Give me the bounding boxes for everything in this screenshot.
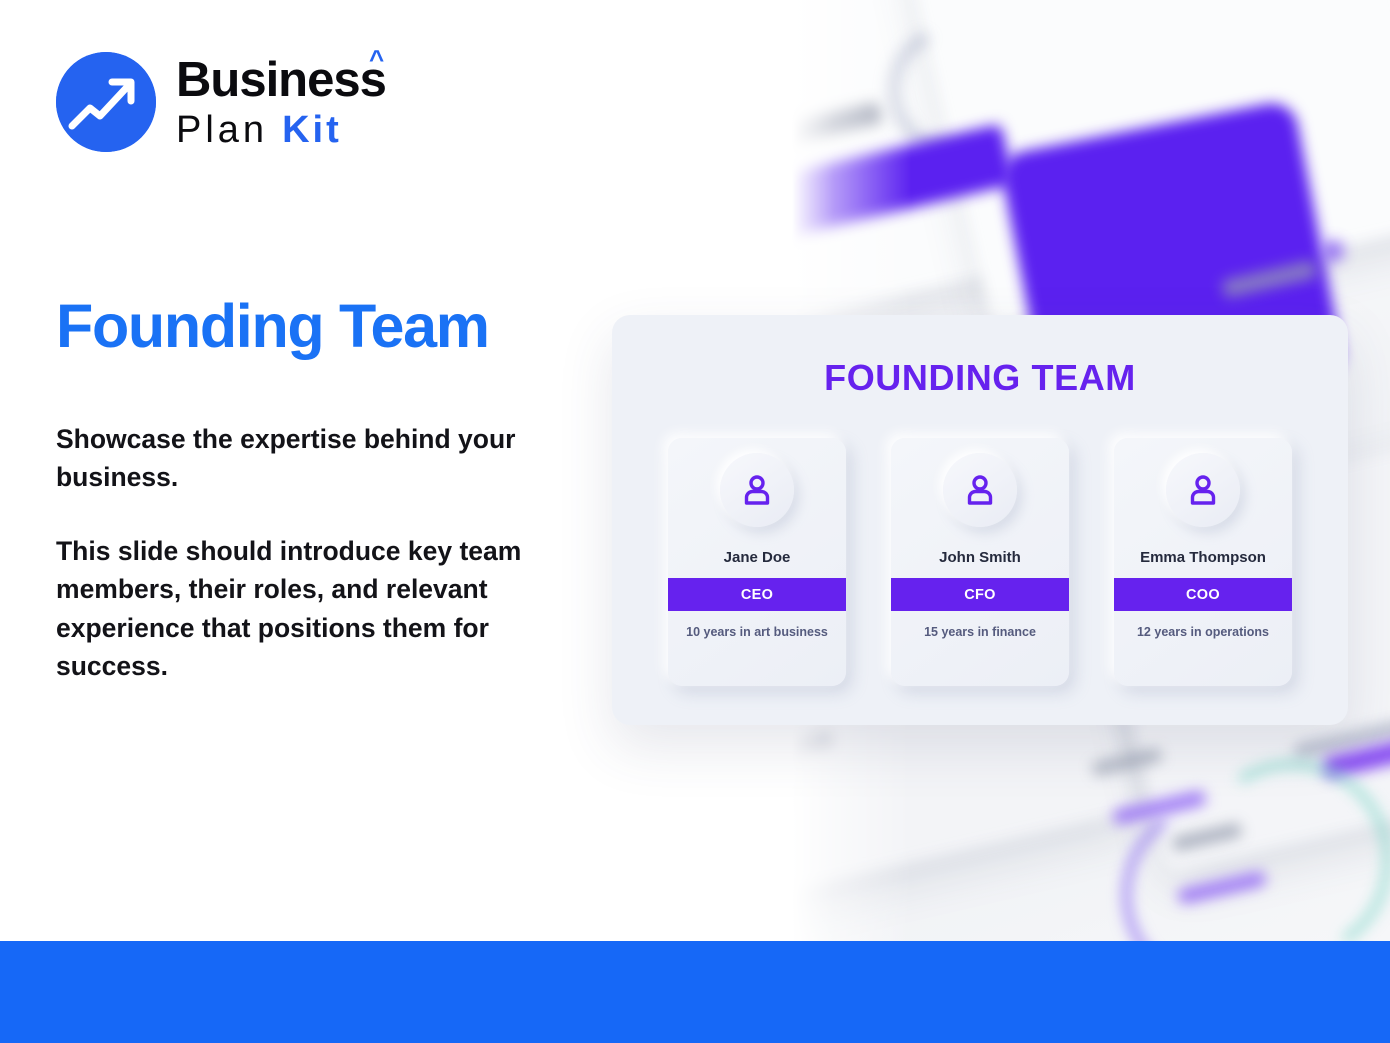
- brand-name-line2: PlanKit: [176, 111, 386, 149]
- brand-logo[interactable]: Business ^ PlanKit: [56, 52, 386, 152]
- member-name: Emma Thompson: [1140, 550, 1266, 565]
- avatar: [720, 453, 794, 527]
- member-experience: 12 years in operations: [1131, 625, 1275, 640]
- description-paragraph-2: This slide should introduce key team mem…: [56, 532, 561, 685]
- person-icon: [963, 473, 997, 507]
- avatar: [943, 453, 1017, 527]
- member-experience: 15 years in finance: [918, 625, 1042, 640]
- member-experience: 10 years in art business: [680, 625, 834, 640]
- background-dot-purple: [1322, 240, 1344, 262]
- member-role-badge: COO: [1114, 578, 1292, 611]
- team-member-card[interactable]: Emma Thompson COO 12 years in operations: [1114, 438, 1292, 686]
- trending-up-arrow-icon: [56, 52, 156, 152]
- member-role-badge: CEO: [668, 578, 846, 611]
- slide-template-page: Business ^ PlanKit Founding Team Showcas…: [0, 0, 1390, 1043]
- member-role-badge: CFO: [891, 578, 1069, 611]
- team-member-card[interactable]: Jane Doe CEO 10 years in art business: [668, 438, 846, 686]
- brand-wordmark: Business ^ PlanKit: [176, 56, 386, 149]
- brand-name-line1: Business ^: [176, 56, 386, 105]
- team-member-card-list: Jane Doe CEO 10 years in art business Jo…: [612, 438, 1348, 686]
- slide-preview-title: FOUNDING TEAM: [612, 315, 1348, 399]
- brand-name-business: Business: [176, 53, 386, 107]
- brand-circumflex-accent: ^: [369, 46, 383, 72]
- member-name: John Smith: [939, 550, 1021, 565]
- brand-name-plan: Plan: [176, 109, 268, 151]
- page-title: Founding Team: [56, 296, 489, 357]
- brand-name-kit: Kit: [282, 109, 342, 151]
- team-member-card[interactable]: John Smith CFO 15 years in finance: [891, 438, 1069, 686]
- person-icon: [1186, 473, 1220, 507]
- avatar: [1166, 453, 1240, 527]
- slide-preview-panel[interactable]: FOUNDING TEAM Jane Doe CEO 10 years in a…: [612, 315, 1348, 725]
- description-paragraph-1: Showcase the expertise behind your busin…: [56, 420, 561, 496]
- person-icon: [740, 473, 774, 507]
- description-block: Showcase the expertise behind your busin…: [56, 420, 561, 685]
- footer-bar: [0, 941, 1390, 1043]
- member-name: Jane Doe: [724, 550, 791, 565]
